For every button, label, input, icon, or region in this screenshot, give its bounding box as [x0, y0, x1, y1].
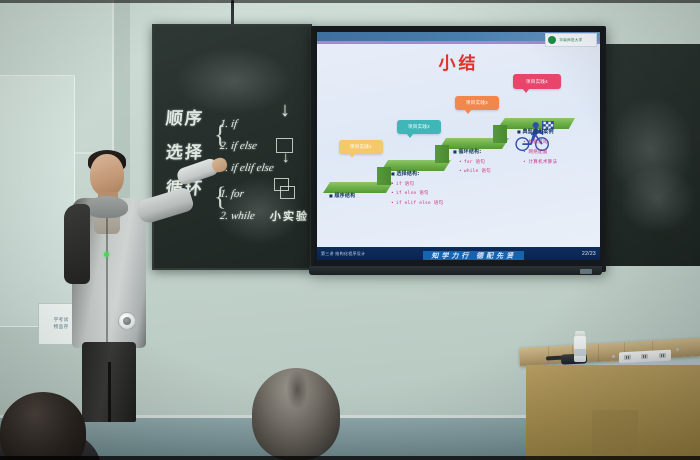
presenter	[60, 152, 186, 420]
callout-practice-2[interactable]: 项目实践2	[397, 120, 441, 134]
block-cases-item-1: 机器游戏	[523, 139, 557, 145]
chalk-arrow-icon-2: ↓	[282, 150, 290, 165]
presenter-jacket-zip	[106, 218, 108, 344]
block-selection-item-2: if else 语句	[391, 190, 443, 196]
power-socket-icon	[624, 355, 631, 360]
presenter-mic-indicator	[104, 252, 109, 257]
block-loop-heading: 循环结构:	[453, 148, 491, 155]
block-cases-item-2: 网络配置	[523, 149, 557, 155]
lectern-body	[526, 365, 700, 460]
block-loop-item-1: for 语句	[459, 159, 491, 165]
stair-riser-3	[493, 125, 507, 143]
presentation-slide: 华南师范大学 小结 项目实践1 项目实践2 项目实践3 项目实践4	[317, 32, 600, 260]
display-brand-logo	[580, 269, 592, 274]
chalk-for: 1. for	[219, 188, 245, 200]
callout-practice-3[interactable]: 项目实践3	[455, 96, 499, 110]
chalk-experiment-note: 小实验	[269, 208, 309, 224]
block-loop: 循环结构: for 语句 while 语句	[453, 148, 491, 174]
presenter-head	[90, 154, 124, 196]
block-cases-heading: 典型应用案例	[517, 128, 557, 135]
display-bezel-bottom	[309, 266, 602, 275]
presenter-badge	[118, 312, 136, 330]
hanging-cable	[231, 0, 234, 27]
footer-page-number: 22/23	[582, 251, 596, 257]
presenter-right-arm	[134, 186, 195, 225]
blackboard-right-panel	[596, 44, 700, 266]
block-selection-item-1: if 语句	[391, 181, 443, 187]
lectern-screw-right	[676, 348, 679, 351]
chalk-if: 1. if	[219, 118, 238, 130]
chalk-sequence: 顺序	[165, 104, 205, 129]
lectern	[520, 348, 700, 460]
footer-center: 知学力行 德配先贤	[365, 245, 582, 261]
stair-riser-2	[435, 145, 449, 163]
block-sequence-heading: 顺序结构	[329, 192, 355, 199]
stair-riser-1	[377, 167, 391, 185]
letterbox-bottom	[0, 456, 700, 460]
block-cases-item-3: 计算机术算法	[523, 159, 557, 165]
presenter-leg-split	[108, 362, 111, 422]
block-sequence: 顺序结构	[329, 192, 355, 199]
callout-label-4: 项目实践4	[526, 79, 548, 85]
block-cases: 典型应用案例 机器游戏 网络配置 计算机术算法	[517, 128, 557, 165]
block-selection: 选择结构: if 语句 if else 语句 if elif else 语句	[391, 170, 443, 206]
power-socket-icon	[659, 353, 666, 358]
slide-footer: 第三讲 结构化程序设计 知学力行 德配先贤 22/23	[317, 247, 600, 260]
bottle-label	[574, 349, 586, 356]
callout-label-2: 项目实践2	[408, 124, 430, 130]
callout-practice-1[interactable]: 项目实践1	[339, 140, 383, 154]
callout-label-3: 项目实践3	[466, 100, 488, 106]
university-name: 华南师范大学	[559, 37, 582, 42]
callout-label-1: 项目实践1	[350, 144, 372, 150]
block-loop-item-2: while 语句	[459, 168, 491, 174]
audience-right-hair-part	[286, 370, 308, 410]
chalk-if-elif-else: 3. if elif else	[219, 162, 274, 174]
letterbox-top	[0, 0, 700, 3]
lectern-screw-left	[612, 355, 615, 358]
footer-lecture-title: 第三讲 结构化程序设计	[321, 251, 365, 257]
chalk-if-else: 2. if else	[219, 140, 258, 152]
presenter-collar	[86, 196, 128, 218]
slide-title: 小结	[317, 49, 600, 74]
power-socket-icon	[641, 354, 648, 359]
university-emblem-icon	[548, 36, 556, 44]
footer-motto: 知学力行 德配先贤	[423, 251, 524, 261]
chalk-box-icon-4	[280, 186, 295, 199]
chalk-while: 2. while	[219, 210, 256, 222]
classroom-scene: 学考试 物品存 顺序 选择 循环 { { 1. if 2. if else 3.…	[0, 0, 700, 460]
interactive-display[interactable]: 华南师范大学 小结 项目实践1 项目实践2 项目实践3 项目实践4	[311, 26, 606, 272]
university-logo: 华南师范大学	[545, 33, 597, 47]
block-selection-item-3: if elif else 语句	[391, 200, 443, 206]
lectern-panel	[592, 410, 638, 454]
block-selection-heading: 选择结构:	[391, 170, 443, 177]
chalk-arrow-icon: ↓	[280, 100, 290, 120]
callout-practice-4[interactable]: 项目实践4	[513, 74, 561, 89]
presenter-left-shoulder	[64, 204, 90, 284]
